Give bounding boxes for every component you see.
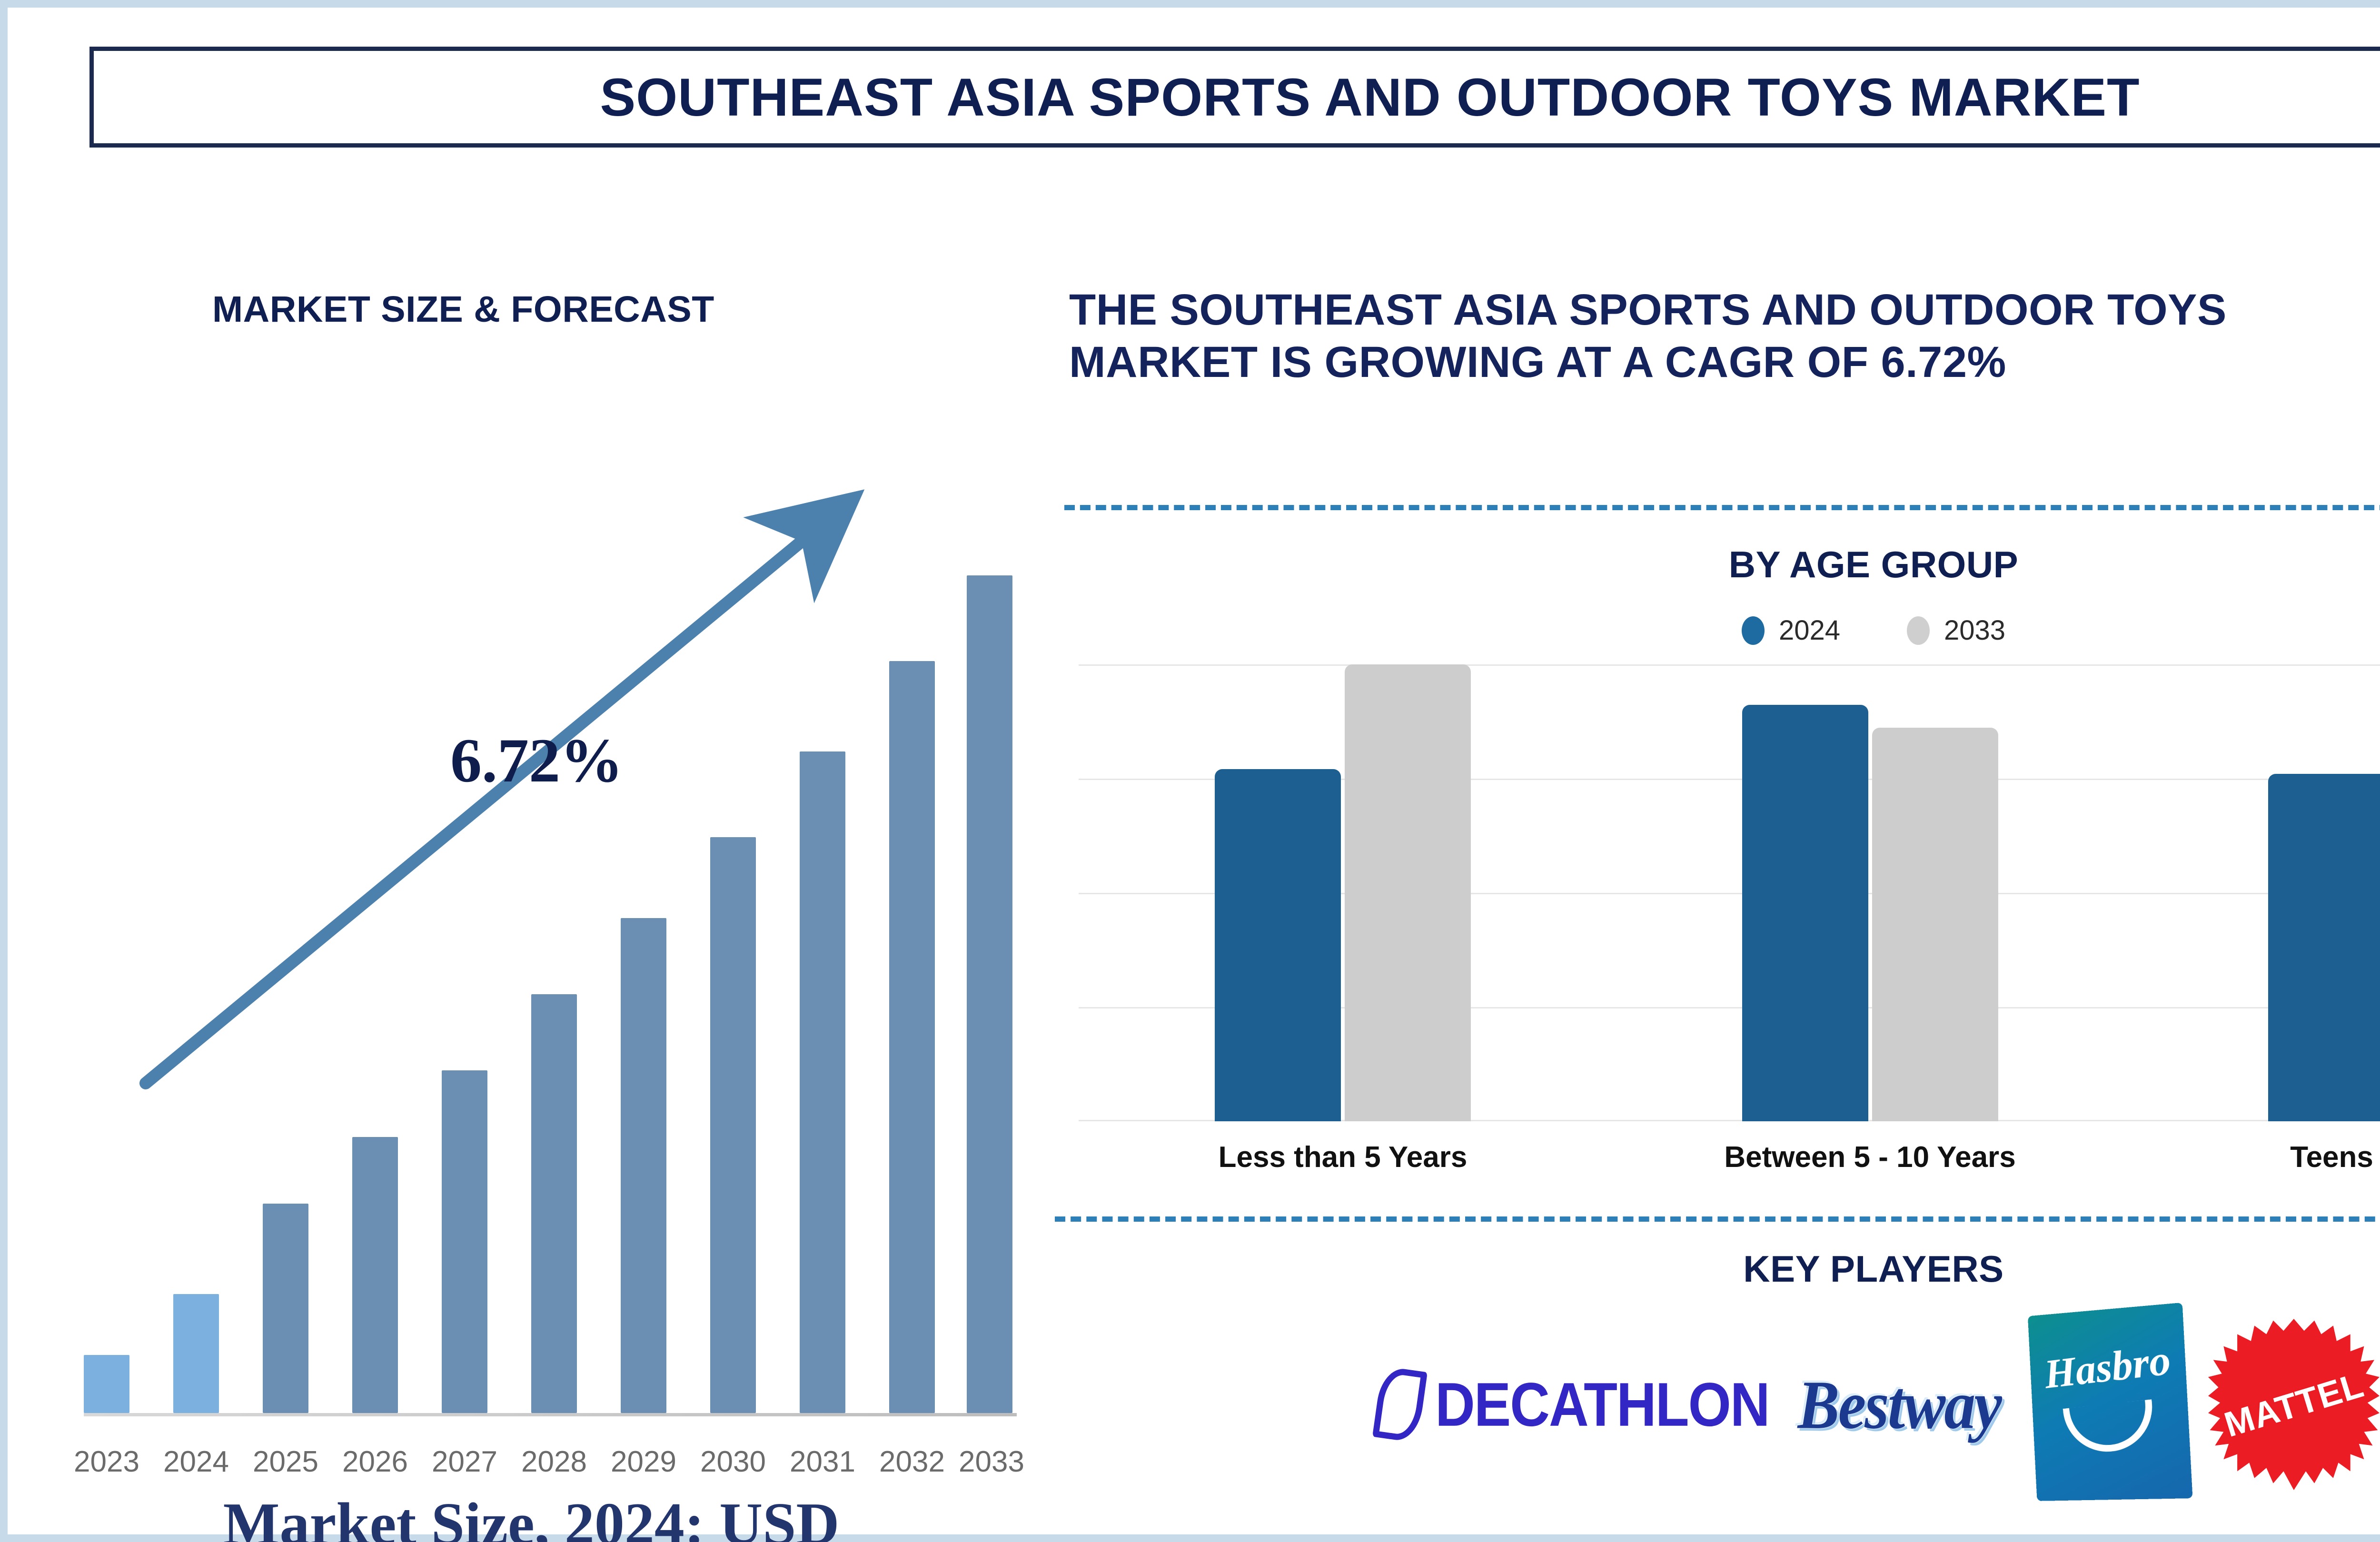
chart-baseline bbox=[84, 1413, 1017, 1416]
market-size-value: Market Size, 2024: USD ~995.52 Million bbox=[46, 1488, 1017, 1542]
left-panel: MARKET SIZE & FORECAST bbox=[36, 208, 1021, 1502]
legend-item-2033: 2033 bbox=[1907, 614, 2005, 646]
year-label-2033: 2033 bbox=[951, 1445, 1032, 1479]
year-label-2025: 2025 bbox=[245, 1445, 326, 1479]
decathlon-mark-icon bbox=[1372, 1366, 1428, 1443]
bar-2024-teens-adults bbox=[2268, 774, 2380, 1121]
bar-2024-5-to-10 bbox=[1742, 705, 1868, 1121]
growth-bar-2031 bbox=[800, 751, 845, 1413]
year-label-2030: 2030 bbox=[693, 1445, 773, 1479]
year-label-2032: 2032 bbox=[872, 1445, 952, 1479]
infographic-canvas: SOUTHEAST ASIA SPORTS AND OUTDOOR TOYS M… bbox=[8, 8, 2380, 1534]
growth-bar-2024 bbox=[173, 1294, 219, 1413]
bar-group-less-than-5 bbox=[1079, 664, 1607, 1121]
growth-bar-2030 bbox=[710, 837, 756, 1413]
hasbro-wordmark: Hasbro bbox=[2042, 1335, 2172, 1398]
year-label-2026: 2026 bbox=[335, 1445, 416, 1479]
logo-hasbro: Hasbro bbox=[2028, 1303, 2192, 1501]
right-panel: THE SOUTHEAST ASIA SPORTS AND OUTDOOR TO… bbox=[1055, 208, 2380, 1502]
logo-bestway: Bestway bbox=[1791, 1364, 2007, 1444]
logo-mattel: MATTEL bbox=[2208, 1319, 2380, 1490]
bar-group-teens-adults bbox=[2133, 664, 2380, 1121]
bar-group-5-to-10 bbox=[1607, 664, 2133, 1121]
growth-bar-2033 bbox=[967, 575, 1012, 1413]
year-label-2023: 2023 bbox=[66, 1445, 147, 1479]
year-label-2028: 2028 bbox=[514, 1445, 595, 1479]
market-size-forecast-label: MARKET SIZE & FORECAST bbox=[212, 288, 714, 331]
title-box: SOUTHEAST ASIA SPORTS AND OUTDOOR TOYS M… bbox=[89, 47, 2380, 148]
divider-top bbox=[1064, 505, 2380, 510]
category-label-teens-adults: Teens & Adults bbox=[2133, 1140, 2380, 1174]
age-group-title: BY AGE GROUP bbox=[1064, 543, 2380, 586]
page-title: SOUTHEAST ASIA SPORTS AND OUTDOOR TOYS M… bbox=[600, 67, 2140, 128]
growth-bar-2029 bbox=[621, 918, 666, 1413]
infographic-page: SOUTHEAST ASIA SPORTS AND OUTDOOR TOYS M… bbox=[0, 0, 2380, 1542]
year-label-2029: 2029 bbox=[603, 1445, 684, 1479]
growth-bar-2028 bbox=[531, 994, 577, 1413]
growth-bar-2026 bbox=[352, 1137, 398, 1413]
logo-decathlon: DECATHLON bbox=[1377, 1369, 1769, 1440]
year-label-2027: 2027 bbox=[424, 1445, 505, 1479]
bar-2033-less-than-5 bbox=[1345, 664, 1471, 1121]
key-players-logos: DECATHLON Bestway Hasbro MATTEL bbox=[1055, 1302, 2380, 1507]
growth-bar-2025 bbox=[263, 1204, 308, 1413]
legend-swatch-2024 bbox=[1742, 616, 1765, 645]
legend-swatch-2033 bbox=[1907, 616, 1930, 645]
legend-label-2024: 2024 bbox=[1779, 614, 1840, 646]
age-group-bar-chart bbox=[1079, 664, 2380, 1121]
growth-bar-2027 bbox=[442, 1070, 487, 1413]
growth-bar-2032 bbox=[889, 661, 935, 1413]
age-category-axis: Less than 5 Years Between 5 - 10 Years T… bbox=[1079, 1140, 2380, 1183]
year-label-2024: 2024 bbox=[156, 1445, 237, 1479]
key-players-title: KEY PLAYERS bbox=[1055, 1247, 2380, 1291]
age-group-legend: 2024 2033 bbox=[1064, 614, 2380, 646]
hasbro-smile-icon bbox=[2063, 1399, 2157, 1455]
bar-2033-5-to-10 bbox=[1872, 728, 1998, 1121]
market-size-forecast-chart bbox=[60, 479, 1017, 1416]
cagr-callout: 6.72% bbox=[450, 724, 623, 797]
category-label-less-than-5: Less than 5 Years bbox=[1079, 1140, 1607, 1174]
divider-key-players bbox=[1055, 1216, 2380, 1222]
market-size-line-1: Market Size, 2024: USD bbox=[46, 1488, 1017, 1542]
bar-2024-less-than-5 bbox=[1215, 769, 1341, 1121]
category-label-5-to-10: Between 5 - 10 Years bbox=[1607, 1140, 2133, 1174]
cagr-headline: THE SOUTHEAST ASIA SPORTS AND OUTDOOR TO… bbox=[1069, 284, 2380, 389]
growth-bar-2023 bbox=[84, 1355, 129, 1413]
decathlon-wordmark: DECATHLON bbox=[1435, 1369, 1769, 1440]
year-label-2031: 2031 bbox=[782, 1445, 863, 1479]
legend-item-2024: 2024 bbox=[1742, 614, 1840, 646]
year-axis: 2023 2024 2025 2026 2027 2028 2029 2030 … bbox=[60, 1445, 993, 1488]
legend-label-2033: 2033 bbox=[1944, 614, 2005, 646]
